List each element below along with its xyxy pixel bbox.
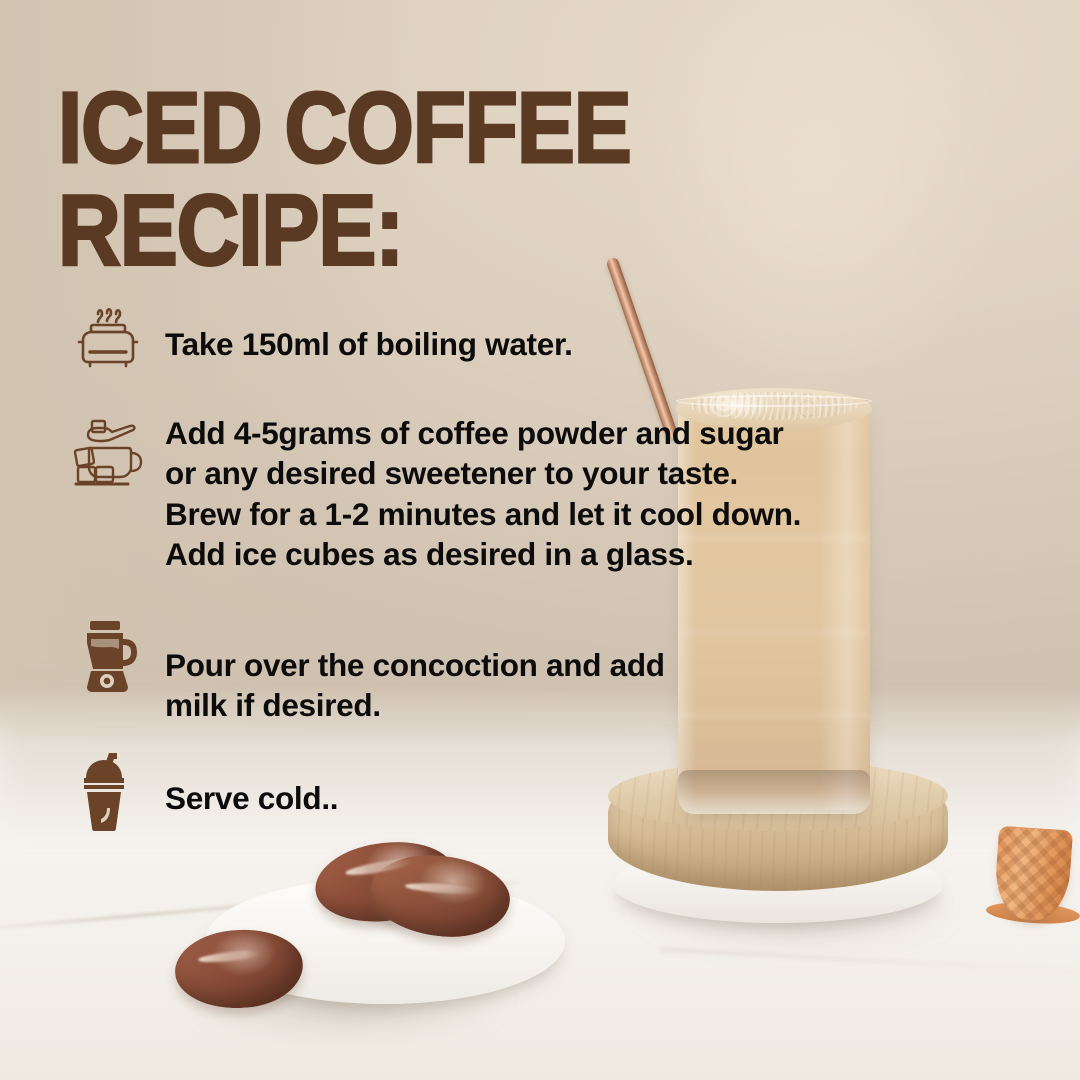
recipe-content: ICED COFFEE RECIPE: bbox=[0, 0, 1080, 1080]
recipe-step: Serve cold.. bbox=[0, 748, 960, 819]
cup-spoon-sugar-icon bbox=[62, 415, 154, 491]
recipe-step-text: Take 150ml of boiling water. bbox=[165, 298, 573, 365]
step-line: Brew for a 1-2 minutes and let it cool d… bbox=[165, 494, 801, 535]
step-line: Add 4-5grams of coffee powder and sugar bbox=[165, 413, 801, 454]
step-line: Pour over the concoction and add bbox=[165, 645, 665, 686]
page-title-line-2: RECIPE: bbox=[58, 180, 821, 282]
step-line: Serve cold.. bbox=[165, 778, 338, 819]
recipe-step: Add 4-5grams of coffee powder and sugar … bbox=[0, 411, 960, 575]
toaster-steam-icon bbox=[62, 300, 154, 374]
recipe-step: Take 150ml of boiling water. bbox=[0, 298, 960, 365]
recipe-poster: ICED COFFEE RECIPE: bbox=[0, 0, 1080, 1080]
recipe-step-text: Pour over the concoction and add milk if… bbox=[165, 619, 665, 726]
page-title-line-1: ICED COFFEE bbox=[58, 78, 821, 180]
recipe-step-text: Add 4-5grams of coffee powder and sugar … bbox=[165, 411, 801, 575]
step-line: milk if desired. bbox=[165, 685, 665, 726]
takeaway-cup-straw-icon bbox=[62, 750, 154, 832]
recipe-step: Pour over the concoction and add milk if… bbox=[0, 619, 960, 726]
blender-icon bbox=[62, 619, 154, 697]
step-line: Add ice cubes as desired in a glass. bbox=[165, 534, 801, 575]
recipe-step-text: Serve cold.. bbox=[165, 748, 338, 819]
step-line: or any desired sweetener to your taste. bbox=[165, 453, 801, 494]
recipe-steps-list: Take 150ml of boiling water. bbox=[0, 298, 960, 818]
step-line: Take 150ml of boiling water. bbox=[165, 324, 573, 365]
page-title: ICED COFFEE RECIPE: bbox=[58, 78, 821, 283]
